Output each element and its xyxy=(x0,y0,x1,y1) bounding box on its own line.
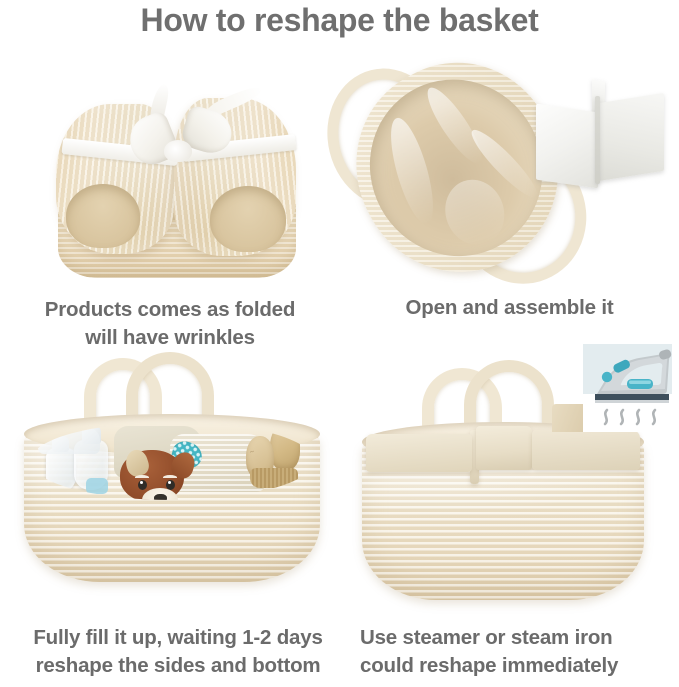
filled-basket-photo: ~ xyxy=(6,352,342,620)
open-basket-with-divider-photo xyxy=(324,58,679,293)
step-3-caption: Fully fill it up, waiting 1-2 days resha… xyxy=(2,624,354,680)
folded-rolled-basket-photo xyxy=(26,64,326,299)
lining-crease xyxy=(382,114,441,228)
steam-iron-icon xyxy=(583,344,672,432)
page-title: How to reshape the basket xyxy=(0,2,679,39)
divider-wall-left xyxy=(476,426,532,470)
brush-bristles xyxy=(250,468,298,488)
divider-wall-far-left xyxy=(366,434,472,472)
how-to-reshape-basket-infographic: How to reshape the basket Products comes… xyxy=(0,0,679,687)
divider-panel-right xyxy=(598,93,664,181)
rolled-basket-illustration xyxy=(56,82,298,287)
step-1-caption: Products comes as folded will have wrink… xyxy=(0,296,340,352)
step-4-caption: Use steamer or steam iron could reshape … xyxy=(356,624,676,680)
divider-wall-right xyxy=(532,430,640,470)
filled-basket-illustration: ~ xyxy=(6,352,342,620)
baby-bottle xyxy=(46,448,76,492)
steam-iron-glyph xyxy=(583,344,672,432)
lining-crease xyxy=(436,171,513,253)
lining-crease xyxy=(420,82,490,170)
fox-nose xyxy=(154,494,167,500)
divider-insert xyxy=(536,80,666,196)
divider-panel-left xyxy=(536,104,598,189)
blue-accessory xyxy=(86,478,108,494)
fox-eye-left xyxy=(138,480,147,490)
step-2-caption: Open and assemble it xyxy=(340,294,679,322)
wipes-pack xyxy=(38,428,100,454)
open-basket-illustration xyxy=(324,58,679,293)
fox-ear-left xyxy=(123,447,152,479)
wooden-brush-head xyxy=(270,424,300,470)
ribbon-knot xyxy=(164,140,192,162)
wooden-brush-group: ~ xyxy=(244,424,314,496)
fox-plush-toy xyxy=(112,436,208,500)
divider-panel-spine xyxy=(595,96,600,184)
fox-head xyxy=(120,450,184,500)
basket-contents: ~ xyxy=(30,422,314,500)
